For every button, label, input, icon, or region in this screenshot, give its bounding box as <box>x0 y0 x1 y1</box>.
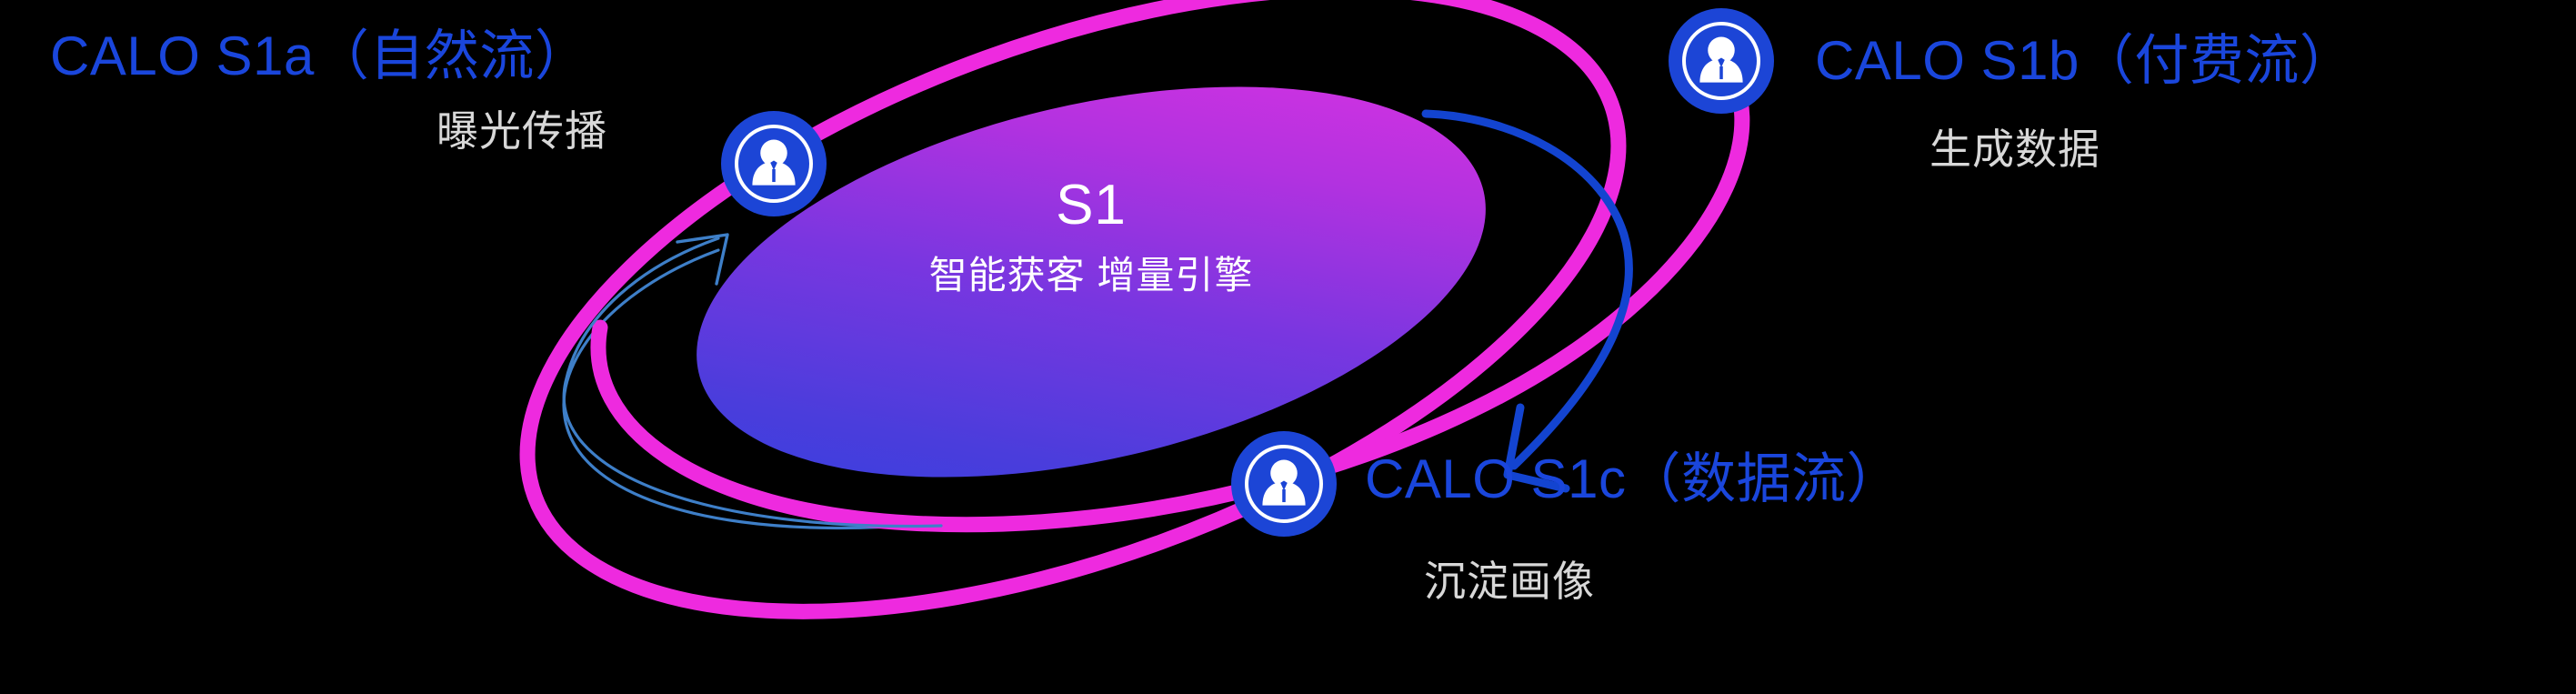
diagram-canvas: S1 智能获客 增量引擎 CALO S1a（自然流） 曝光传播 CALO S1b… <box>0 0 2576 694</box>
node-icon-s1b[interactable] <box>1669 8 1774 114</box>
orbit-diagram-svg <box>0 0 2576 694</box>
node-title-s1c: CALO S1c（数据流） <box>1365 450 1901 508</box>
node-caption-s1c: 沉淀画像 <box>1424 559 1595 603</box>
node-caption-s1b: 生成数据 <box>1929 127 2100 171</box>
node-caption-s1a: 曝光传播 <box>436 109 607 153</box>
node-icon-s1a[interactable] <box>721 111 827 216</box>
node-title-s1b: CALO S1b（付费流） <box>1815 32 2354 89</box>
node-icon-s1c[interactable] <box>1231 431 1337 537</box>
node-title-s1a: CALO S1a（自然流） <box>50 27 589 85</box>
